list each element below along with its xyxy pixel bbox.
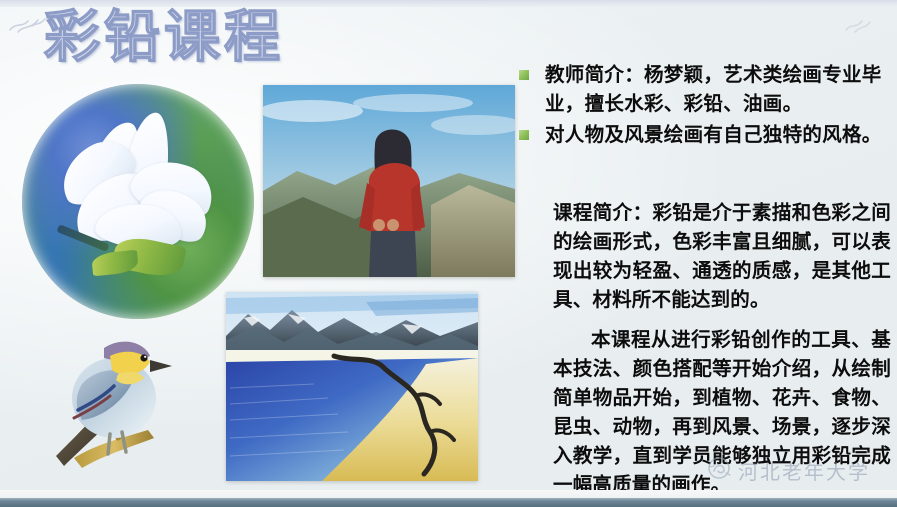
circle-swirl-logo-icon: [706, 455, 732, 485]
slide-canvas: 彩铅课程: [0, 0, 897, 507]
teacher-intro-text-2: 对人物及风景绘画有自己独特的风格。: [545, 120, 882, 149]
swoosh-scribble-icon-right: [843, 16, 873, 36]
teacher-photo-image: [263, 85, 515, 277]
bullet-square-icon: [519, 130, 529, 140]
course-intro-heading: 课程简介：: [553, 201, 652, 224]
watermark: 河北老年大学: [706, 455, 870, 485]
watermark-text: 河北老年大学: [738, 456, 870, 485]
landscape-painting-image: [226, 292, 478, 481]
teacher-intro-item: 教师简介：杨梦颖，艺术类绘画专业毕业，擅长水彩、彩铅、油画。: [519, 60, 891, 118]
bullet-square-icon: [519, 70, 529, 80]
bird-illustration-image: [26, 326, 194, 484]
swoosh-scribble-icon-left: [8, 14, 48, 36]
bottom-light-band: [0, 490, 897, 498]
course-intro-block: 课程简介：彩铅是介于素描和色彩之间的绘画形式，色彩丰富且细腻，可以表现出较为轻盈…: [553, 198, 891, 314]
teacher-intro-item: 对人物及风景绘画有自己独特的风格。: [519, 120, 891, 149]
teacher-intro-text-1: 教师简介：杨梦颖，艺术类绘画专业毕业，擅长水彩、彩铅、油画。: [545, 60, 891, 118]
bottom-chrome-band: [0, 498, 897, 507]
magnolia-flower-image: [22, 84, 254, 319]
teacher-intro-block: 教师简介：杨梦颖，艺术类绘画专业毕业，擅长水彩、彩铅、油画。 对人物及风景绘画有…: [519, 60, 891, 149]
page-title: 彩铅课程: [44, 6, 284, 68]
course-intro-paragraph: 课程简介：彩铅是介于素描和色彩之间的绘画形式，色彩丰富且细腻，可以表现出较为轻盈…: [553, 198, 891, 314]
